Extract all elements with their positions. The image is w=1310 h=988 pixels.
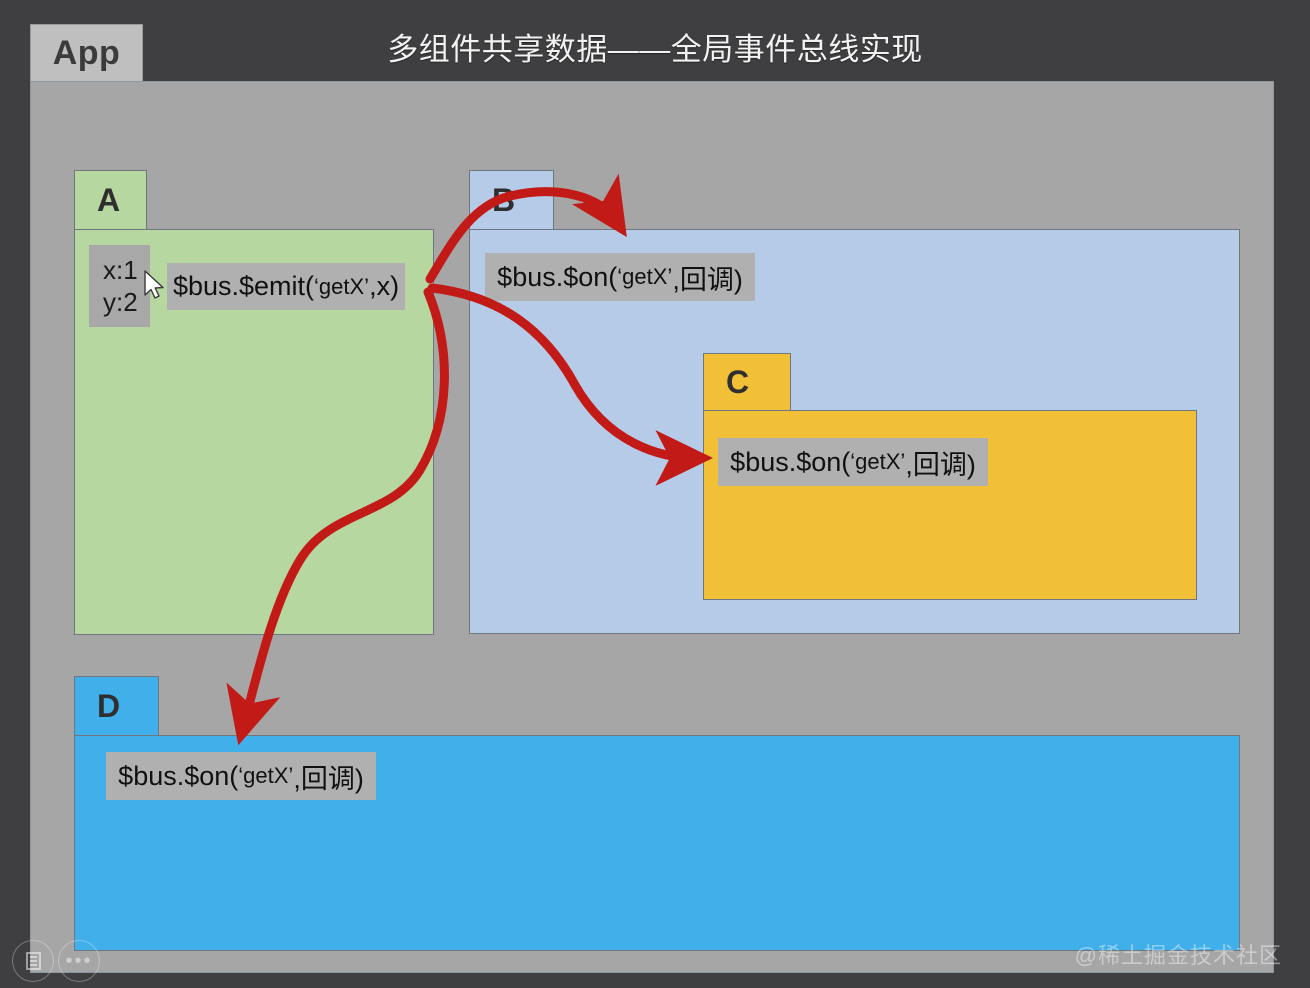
component-a-data-box: x:1 y:2: [89, 245, 150, 327]
component-a-data-x: x:1: [103, 254, 138, 286]
component-a-label: A: [97, 182, 121, 219]
mouse-cursor: [143, 270, 165, 302]
component-d-label: D: [97, 688, 121, 725]
on-prefix: $bus.$on(: [497, 262, 617, 293]
component-d-tab[interactable]: D: [74, 676, 159, 735]
app-panel: A x:1 y:2 $bus.$emit(‘getX’,x) B $bus.$o…: [30, 81, 1274, 973]
ellipsis-icon: •••: [65, 956, 92, 966]
component-c-tab[interactable]: C: [703, 353, 791, 410]
on-arg-tail: ,回调): [672, 258, 743, 297]
app-tab-text: App: [53, 34, 121, 73]
component-a-tab[interactable]: A: [74, 170, 147, 229]
page-title: 多组件共享数据——全局事件总线实现: [0, 24, 1310, 69]
component-b-label: B: [492, 182, 516, 219]
slide-canvas: 多组件共享数据——全局事件总线实现 App A x:1 y:2 $bus.$em…: [0, 0, 1310, 988]
component-d-on-chip[interactable]: $bus.$on(‘getX’,回调): [106, 752, 376, 800]
watermark: @稀土掘金技术社区: [1075, 938, 1282, 970]
on-prefix: $bus.$on(: [730, 447, 850, 478]
component-b-tab[interactable]: B: [469, 170, 554, 229]
component-b-on-chip[interactable]: $bus.$on(‘getX’,回调): [485, 253, 755, 301]
on-arg-event: ‘getX’: [850, 449, 905, 475]
more-options-button[interactable]: •••: [58, 940, 100, 982]
on-prefix: $bus.$on(: [118, 761, 238, 792]
on-arg-tail: ,回调): [293, 757, 364, 796]
on-arg-event: ‘getX’: [617, 264, 672, 290]
emit-arg-tail: ,x): [369, 271, 399, 302]
component-a-data-y: y:2: [103, 286, 138, 318]
component-a-emit-chip[interactable]: $bus.$emit(‘getX’,x): [167, 263, 405, 310]
on-arg-event: ‘getX’: [238, 763, 293, 789]
app-tab-label: App: [30, 24, 143, 81]
emit-arg-event: ‘getX’: [314, 274, 369, 300]
document-icon: [26, 952, 41, 970]
notes-button[interactable]: [12, 940, 54, 982]
on-arg-tail: ,回调): [905, 443, 976, 482]
component-c-label: C: [726, 364, 750, 401]
emit-prefix: $bus.$emit(: [173, 271, 314, 302]
component-c-on-chip[interactable]: $bus.$on(‘getX’,回调): [718, 438, 988, 486]
